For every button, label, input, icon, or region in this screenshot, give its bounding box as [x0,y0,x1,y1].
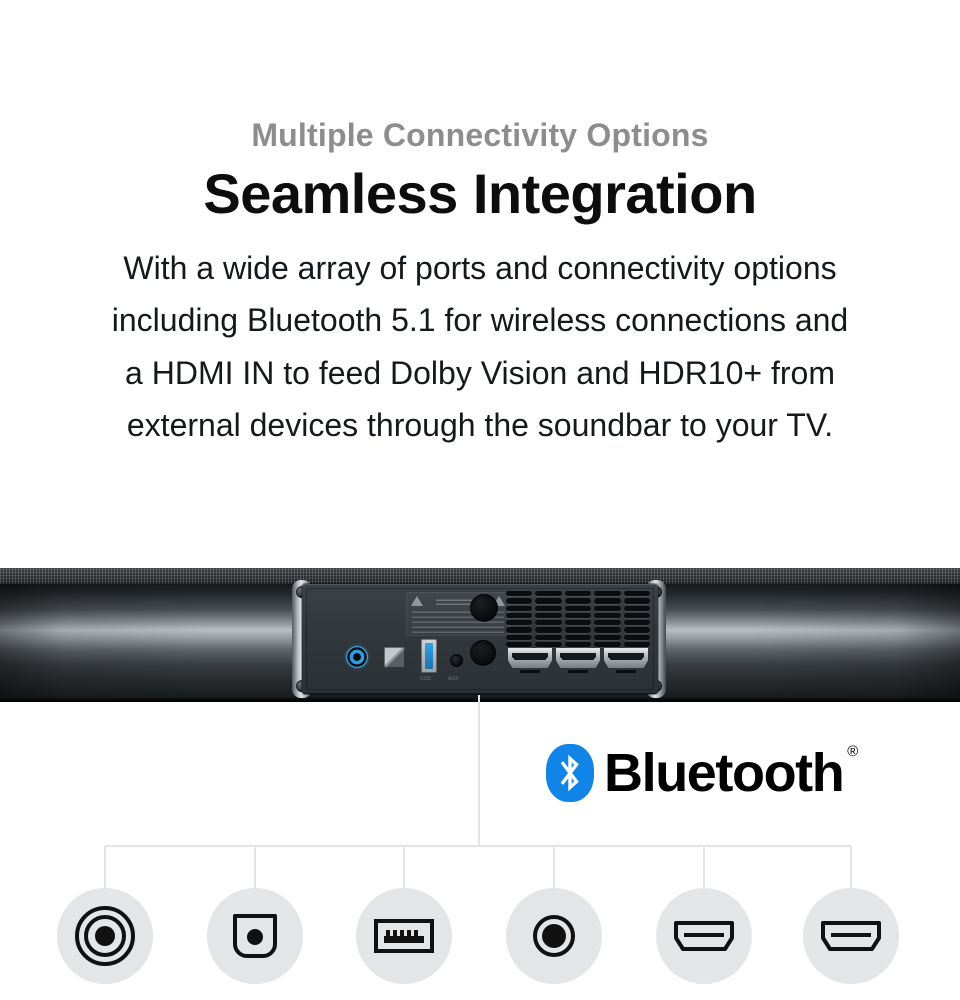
bluetooth-icon [546,744,594,802]
coaxial-port-icon [74,905,136,967]
bluetooth-wordmark: Bluetooth ® [604,746,843,800]
hdmi-port-2 [556,648,600,668]
aux-jack-icon [530,912,578,960]
ventilation-grille [506,591,650,647]
optical-in-port [384,647,405,668]
speaker-grille [0,568,960,585]
hdmi-port-icon [673,919,735,953]
bluetooth-wordmark-text: Bluetooth [604,743,843,803]
hdmi-port-icon [820,919,882,953]
warning-triangle-icon [411,596,423,606]
hdmi-port-1 [508,648,552,668]
eyebrow-text: Multiple Connectivity Options [0,118,960,153]
optical-port-icon [227,908,283,964]
rear-connection-panel: USB AUX [302,584,658,694]
hdmi-port-3 [604,648,648,668]
wall-mount-keyhole [470,594,498,622]
bluetooth-logo: Bluetooth ® [546,744,843,802]
port-chip-hdmi-1[interactable] [656,888,752,984]
port-chip-usb[interactable] [356,888,452,984]
aux-port-caption: AUX [448,676,459,682]
port-chip-hdmi-2[interactable] [803,888,899,984]
usb-port-caption: USB [420,676,431,682]
page-title: Seamless Integration [0,165,960,224]
port-chip-aux[interactable] [506,888,602,984]
usb-port-icon [373,915,435,957]
registered-trademark-icon: ® [847,744,858,759]
aux-in-jack [450,654,463,667]
port-chip-coaxial[interactable] [57,888,153,984]
marketing-copy-block: Multiple Connectivity Options Seamless I… [0,0,960,452]
coaxial-in-port [346,646,368,668]
usb-port [421,639,437,673]
port-icon-row [0,888,960,988]
port-chip-optical[interactable] [207,888,303,984]
body-paragraph: With a wide array of ports and connectiv… [100,242,860,452]
wall-mount-keyhole [470,640,496,666]
